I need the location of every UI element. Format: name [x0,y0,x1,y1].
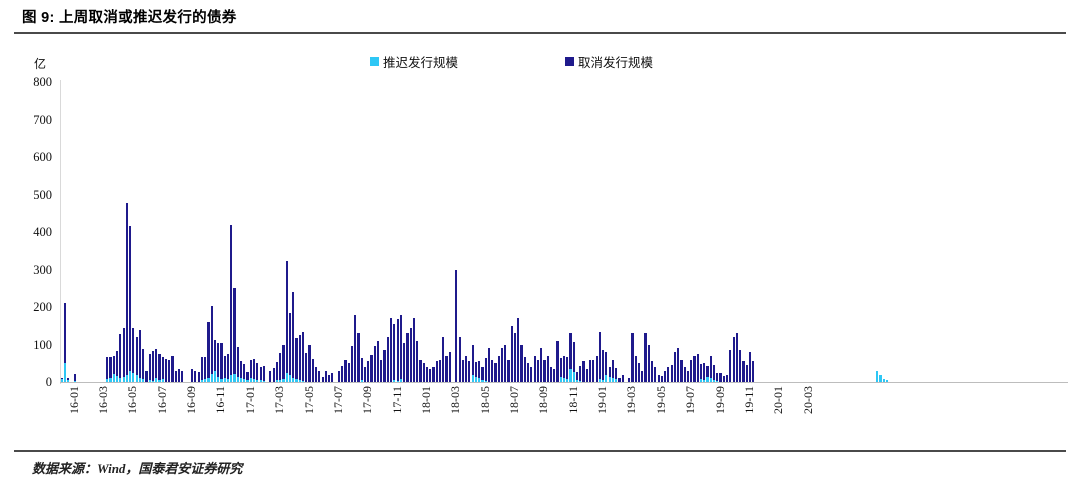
bar-group [250,360,252,382]
bar-segment-delayed [602,380,604,382]
bar-group [524,357,526,383]
bar-segment-cancelled [749,352,751,382]
bar-group [308,345,310,383]
x-axis-tick: 19-11 [742,386,757,414]
x-axis-tick: 19-03 [624,386,639,414]
bar-segment-cancelled [687,371,689,382]
bar-group [312,359,314,382]
x-axis-tick: 18-09 [536,386,551,414]
bar-segment-delayed [207,378,209,382]
bar-segment-cancelled [455,270,457,383]
bar-group [276,362,278,382]
bar-group [442,337,444,382]
bar-group [677,348,679,382]
bar-group [302,332,304,382]
bar-segment-delayed [214,371,216,382]
bar-group [667,367,669,382]
bar-group [462,360,464,383]
bar-group [351,346,353,382]
bar-group [729,350,731,382]
bar-group [534,356,536,382]
bar-group [752,361,754,382]
chart-legend: 推迟发行规模 取消发行规模 [0,52,1080,72]
bar-group [498,356,500,382]
bar-group [517,318,519,382]
bar-group [64,303,66,382]
bar-segment-cancelled [599,332,601,379]
bar-segment-cancelled [214,340,216,371]
bar-segment-delayed [299,380,301,382]
bar-group [318,371,320,382]
bar-segment-cancelled [273,368,275,382]
bar-group [674,352,676,382]
divider-top [14,32,1066,34]
bar-group [501,348,503,382]
bar-segment-cancelled [481,367,483,380]
bar-group [690,360,692,383]
bar-group [609,367,611,382]
bar-segment-cancelled [64,303,66,363]
bar-segment-cancelled [723,376,725,382]
bar-segment-delayed [246,380,248,382]
bar-segment-delayed [883,379,885,382]
bar-group [370,355,372,382]
bar-segment-delayed [61,379,63,382]
bar-segment-cancelled [680,360,682,383]
bar-segment-cancelled [488,348,490,382]
bar-group [504,345,506,383]
bar-group [713,365,715,382]
bar-group [240,361,242,382]
bar-group [152,351,154,383]
bar-segment-delayed [74,381,76,383]
bar-group [410,328,412,382]
bar-segment-delayed [260,380,262,382]
x-axis-tick: 18-03 [448,386,463,414]
x-axis-tick: 20-01 [771,386,786,414]
bar-segment-delayed [879,375,881,382]
bar-segment-cancelled [207,322,209,378]
bar-segment-cancelled [204,357,206,380]
bar-segment-cancelled [498,356,500,382]
bar-group [485,358,487,382]
bar-segment-cancelled [233,288,235,374]
bar-group [413,318,415,382]
bar-segment-cancelled [224,356,226,379]
bar-segment-cancelled [507,360,509,383]
bar-segment-delayed [263,381,265,383]
bar-segment-cancelled [563,356,565,379]
bar-segment-cancelled [377,341,379,382]
divider-bottom [14,450,1066,452]
y-axis-tick: 400 [0,226,52,239]
bar-segment-delayed [393,380,395,382]
bar-group [886,380,888,382]
bar-group [198,372,200,383]
bar-segment-cancelled [661,376,663,382]
bar-segment-delayed [703,380,705,382]
bar-group [315,367,317,382]
bar-segment-cancelled [716,373,718,381]
bar-segment-cancelled [472,345,474,375]
bar-group [74,374,76,382]
bar-segment-cancelled [432,367,434,382]
bar-group [455,270,457,383]
bar-segment-cancelled [612,360,614,379]
bar-group [217,343,219,382]
bar-group [328,375,330,383]
x-axis-tick: 17-01 [243,386,258,414]
x-axis-tick: 18-01 [419,386,434,414]
bar-segment-delayed [706,377,708,382]
bar-segment-cancelled [534,356,536,382]
legend-item-cancelled[interactable]: 取消发行规模 [565,52,653,71]
bar-segment-delayed [123,377,125,382]
bar-segment-delayed [106,379,108,382]
bar-segment-cancelled [648,345,650,383]
x-axis-tick: 20-03 [801,386,816,414]
bar-segment-cancelled [449,352,451,382]
bar-segment-cancelled [126,203,128,376]
bar-group [263,366,265,383]
bar-segment-cancelled [638,363,640,382]
bar-group [605,352,607,382]
bar-group [579,366,581,383]
bar-group [106,357,108,382]
bar-segment-delayed [295,379,297,382]
y-axis-tick: 700 [0,114,52,127]
x-axis-tick: 19-09 [713,386,728,414]
bar-group [400,315,402,382]
bar-segment-cancelled [436,361,438,382]
bar-segment-cancelled [573,342,575,372]
bar-segment-cancelled [165,359,167,382]
bar-group [481,367,483,382]
bar-group [563,356,565,382]
bar-segment-cancelled [155,349,157,378]
bar-segment-cancelled [540,348,542,382]
bar-group [171,356,173,382]
bar-group [211,306,213,382]
bar-group [136,337,138,382]
bar-segment-cancelled [530,367,532,382]
bar-segment-cancelled [494,363,496,382]
bar-segment-delayed [563,378,565,382]
bar-group [716,373,718,382]
bar-segment-cancelled [520,345,522,383]
bar-segment-cancelled [191,369,193,382]
bar-segment-cancelled [289,313,291,375]
bar-group [348,363,350,382]
bar-segment-cancelled [220,343,222,379]
bar-group [491,360,493,383]
bar-segment-delayed [886,380,888,382]
bar-segment-cancelled [547,356,549,382]
x-axis-tick: 16-01 [67,386,82,414]
bar-group [602,350,604,382]
chart-area: 亿 推迟发行规模 取消发行规模 010020030040050060070080… [0,36,1080,446]
bar-group [237,347,239,382]
bar-segment-delayed [126,375,128,382]
bar-group [612,360,614,383]
bar-segment-cancelled [129,226,131,370]
bar-segment-cancelled [198,372,200,383]
bar-segment-cancelled [586,369,588,382]
bar-group [393,324,395,383]
bar-segment-cancelled [387,337,389,382]
bar-group [494,363,496,382]
bar-segment-delayed [560,377,562,382]
bar-group [550,367,552,382]
bar-group [129,226,131,382]
x-axis-tick: 19-05 [654,386,669,414]
bar-segment-cancelled [312,359,314,382]
bar-group [380,360,382,383]
bar-group [354,315,356,383]
bar-group [742,361,744,382]
bar-segment-delayed [615,379,617,382]
bar-segment-cancelled [308,345,310,383]
bar-segment-cancelled [736,333,738,382]
bar-segment-delayed [485,381,487,383]
bar-group [142,349,144,382]
bar-segment-cancelled [618,378,620,383]
bar-segment-cancelled [260,367,262,381]
figure-container: 图 9: 上周取消或推迟发行的债券 亿 推迟发行规模 取消发行规模 010020… [0,0,1080,484]
bar-segment-cancelled [651,361,653,382]
bar-group [387,337,389,382]
bar-segment-delayed [576,380,578,382]
bar-group [684,367,686,382]
x-axis-tick: 16-11 [213,386,228,414]
bar-segment-delayed [158,380,160,382]
bar-group [390,318,392,382]
bar-segment-cancelled [406,333,408,382]
bar-segment-cancelled [423,363,425,382]
bar-segment-cancelled [550,367,552,382]
bar-segment-cancelled [631,333,633,382]
bar-group [622,375,624,383]
bar-segment-cancelled [537,360,539,383]
bar-group [286,261,288,383]
bar-segment-cancelled [119,334,121,378]
bar-group [530,367,532,382]
bar-group [556,341,558,382]
bar-group [426,367,428,382]
bar-segment-cancelled [341,366,343,382]
bar-segment-cancelled [367,361,369,382]
bar-group [472,345,474,383]
bar-group [295,338,297,382]
bar-group [547,356,549,382]
bar-group [569,333,571,382]
bar-segment-delayed [136,375,138,383]
bar-segment-delayed [230,375,232,383]
bar-group [279,353,281,382]
bar-group [149,354,151,383]
bar-group [429,369,431,382]
bar-group [680,360,682,383]
bar-group [879,375,881,382]
bar-segment-cancelled [338,371,340,382]
bar-segment-cancelled [136,337,138,375]
bar-segment-delayed [599,379,601,382]
bar-segment-cancelled [253,359,255,379]
bar-segment-cancelled [282,345,284,380]
bar-segment-delayed [478,378,480,382]
bar-segment-cancelled [364,367,366,382]
x-axis-line [60,382,1068,383]
bar-segment-delayed [227,379,229,382]
bar-segment-cancelled [445,356,447,382]
bar-segment-cancelled [517,318,519,382]
bar-segment-delayed [302,381,304,383]
bar-segment-cancelled [556,341,558,382]
bar-segment-cancelled [295,338,297,379]
bar-group [726,375,728,383]
x-axis-tick: 17-11 [390,386,405,414]
bar-segment-delayed [129,371,131,382]
bar-segment-delayed [224,378,226,382]
bar-segment-cancelled [227,354,229,379]
bar-segment-cancelled [397,319,399,381]
bar-segment-cancelled [426,367,428,382]
bar-group [432,367,434,382]
bar-segment-cancelled [752,361,754,382]
bar-segment-cancelled [713,365,715,380]
bar-group [419,360,421,383]
bar-segment-delayed [282,379,284,382]
bar-segment-cancelled [667,367,669,382]
bar-segment-cancelled [582,361,584,382]
square-icon [565,57,574,66]
bar-group [589,360,591,383]
bar-segment-cancelled [246,372,248,380]
bar-group [338,371,340,382]
bar-segment-delayed [204,379,206,382]
bar-segment-cancelled [331,373,333,382]
bar-group [723,376,725,382]
bar-segment-cancelled [514,333,516,382]
bar-segment-cancelled [243,364,245,379]
bar-segment-cancelled [658,375,660,383]
bar-group [243,364,245,382]
bar-group [273,368,275,382]
bar-group [246,372,248,382]
page-title: 图 9: 上周取消或推迟发行的债券 [22,6,237,27]
bar-group [67,378,69,383]
bar-group [178,369,180,382]
bar-segment-cancelled [710,356,712,379]
bar-group [527,363,529,382]
bar-group [233,288,235,383]
bar-group [671,365,673,382]
x-axis-tick: 19-01 [595,386,610,414]
bar-group [733,337,735,382]
bar-segment-cancelled [553,369,555,382]
bar-group [661,376,663,382]
bar-segment-cancelled [478,361,480,378]
bar-group [459,337,461,382]
y-axis-tick: 600 [0,151,52,164]
bar-group [468,361,470,382]
bar-segment-delayed [142,379,144,382]
bar-segment-cancelled [674,352,676,382]
bar-segment-cancelled [380,360,382,383]
y-axis-tick: 800 [0,76,52,89]
bar-segment-cancelled [719,373,721,382]
bar-segment-cancelled [524,357,526,383]
bar-segment-delayed [475,377,477,382]
bar-segment-cancelled [641,371,643,382]
bar-segment-cancelled [383,350,385,382]
bar-group [687,371,689,382]
bar-group [207,322,209,382]
bar-group [155,349,157,382]
bar-segment-cancelled [566,357,568,380]
bar-group [654,367,656,382]
bar-group [214,340,216,382]
bar-segment-cancelled [175,371,177,382]
bar-group [289,313,291,382]
bar-group [109,357,111,383]
bar-segment-cancelled [654,367,656,382]
bar-group [145,371,147,382]
bar-segment-cancelled [442,337,444,382]
bar-segment-cancelled [302,332,304,381]
bar-group [168,360,170,383]
bar-group [514,333,516,382]
bar-group [883,379,885,382]
bar-segment-delayed [113,374,115,382]
bar-segment-delayed [220,379,222,382]
bar-segment-delayed [152,381,154,383]
bar-segment-cancelled [485,358,487,381]
bar-segment-cancelled [729,350,731,382]
x-axis-tick: 17-03 [272,386,287,414]
bar-group [475,362,477,382]
bar-segment-cancelled [491,360,493,383]
bar-group [175,371,177,382]
bar-segment-cancelled [413,318,415,382]
bar-group [194,371,196,382]
bar-group [162,357,164,382]
bar-group [449,352,451,382]
bar-segment-cancelled [475,362,477,377]
x-axis-tick: 16-09 [184,386,199,414]
bar-group [227,354,229,382]
bar-group [749,352,751,382]
bar-group [282,345,284,383]
bar-segment-cancelled [703,363,705,380]
bar-segment-delayed [710,378,712,382]
bar-segment-delayed [573,372,575,383]
bar-segment-cancelled [609,367,611,376]
bar-segment-cancelled [132,328,134,372]
bar-group [61,378,63,383]
bar-segment-cancelled [354,315,356,383]
bar-segment-delayed [609,377,611,382]
bar-segment-delayed [149,380,151,382]
bar-segment-cancelled [123,328,125,377]
bar-segment-delayed [116,376,118,382]
legend-item-delayed[interactable]: 推迟发行规模 [370,52,458,71]
bar-segment-cancelled [348,363,350,382]
bar-segment-cancelled [74,374,76,381]
bar-segment-delayed [201,380,203,382]
bar-segment-delayed [64,363,66,382]
bar-segment-cancelled [605,352,607,375]
